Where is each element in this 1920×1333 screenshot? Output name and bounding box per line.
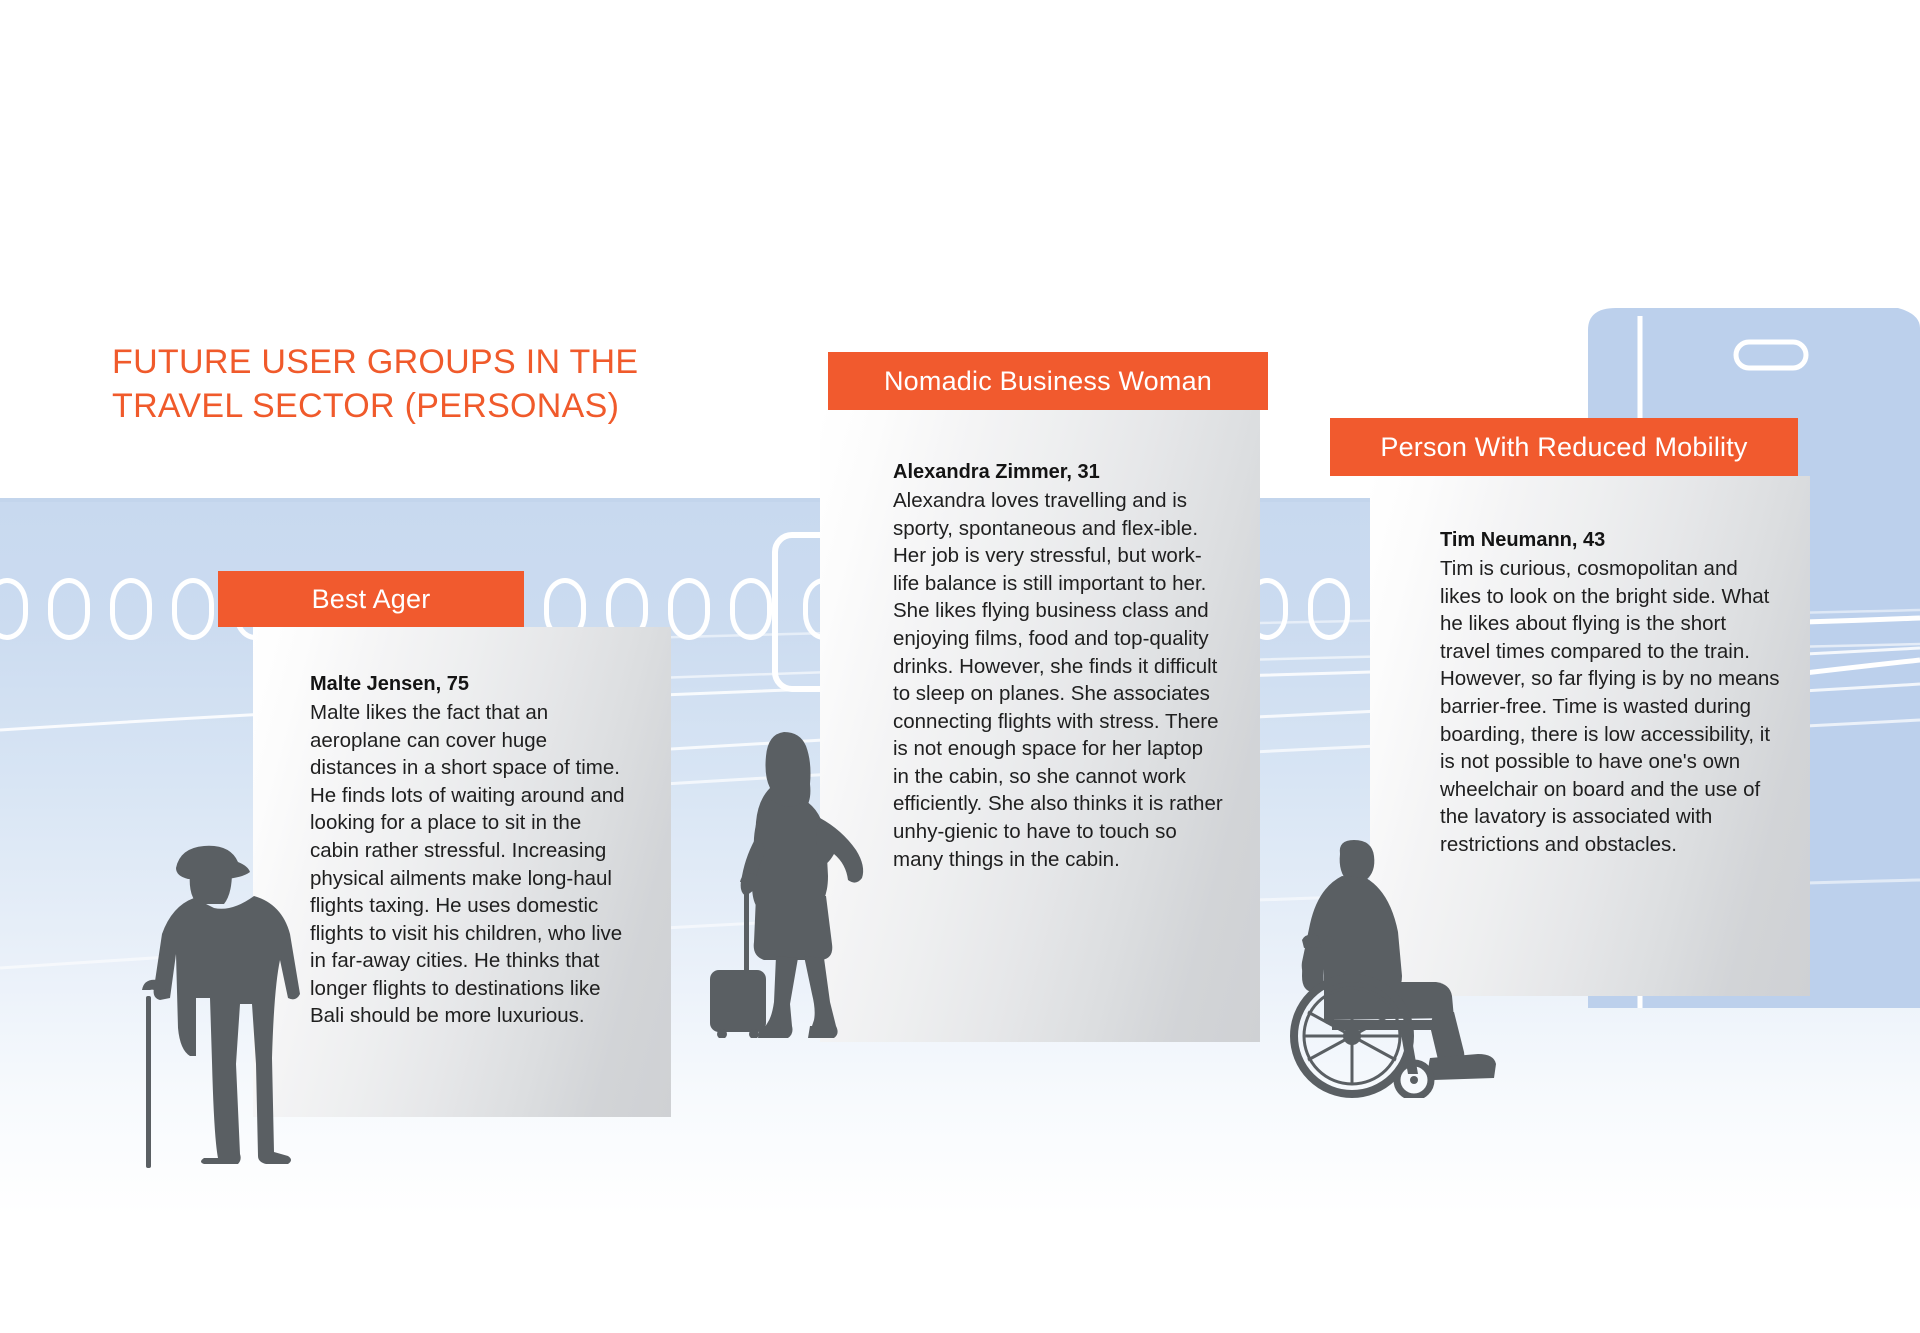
aircraft-window [110, 578, 152, 640]
aircraft-window [0, 578, 28, 640]
persona-body: Alexandra Zimmer, 31 Alexandra loves tra… [893, 460, 1223, 873]
wheelchair-user-icon [1288, 840, 1518, 1098]
business-woman-with-suitcase-icon [706, 726, 896, 1038]
persona-description: Tim is curious, cosmopolitan and likes t… [1440, 555, 1780, 858]
aircraft-window [172, 578, 214, 640]
page-title: FUTURE USER GROUPS IN THE TRAVEL SECTOR … [112, 340, 672, 428]
persona-name: Malte Jensen, 75 [310, 672, 628, 697]
persona-name: Alexandra Zimmer, 31 [893, 460, 1223, 485]
aircraft-window [1308, 578, 1350, 640]
elderly-man-with-cane-icon [132, 838, 332, 1168]
persona-body: Tim Neumann, 43 Tim is curious, cosmopol… [1440, 528, 1780, 858]
persona-header-person-with-reduced-mobility[interactable]: Person With Reduced Mobility [1330, 418, 1798, 476]
persona-body: Malte Jensen, 75 Malte likes the fact th… [310, 672, 628, 1030]
aircraft-window [668, 578, 710, 640]
infographic-canvas: FUTURE USER GROUPS IN THE TRAVEL SECTOR … [0, 0, 1920, 1333]
aircraft-window [730, 578, 772, 640]
persona-description: Malte likes the fact that an aeroplane c… [310, 699, 628, 1030]
persona-header-nomadic-business-woman[interactable]: Nomadic Business Woman [828, 352, 1268, 410]
persona-name: Tim Neumann, 43 [1440, 528, 1780, 553]
persona-description: Alexandra loves travelling and is sporty… [893, 487, 1223, 873]
aircraft-window [48, 578, 90, 640]
persona-header-best-ager[interactable]: Best Ager [218, 571, 524, 627]
